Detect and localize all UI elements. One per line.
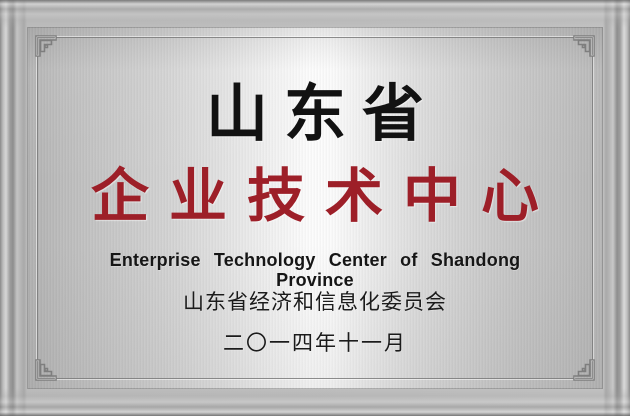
greek-key-corner-icon <box>562 34 596 68</box>
metal-plate: 山东省 企业技术中心 Enterprise Technology Center … <box>27 27 603 389</box>
plaque-main-chinese: 企业技术中心 <box>71 167 559 225</box>
award-plaque: 山东省 企业技术中心 Enterprise Technology Center … <box>0 0 630 416</box>
plaque-subtitle-english: Enterprise Technology Center of Shandong… <box>67 251 563 291</box>
plaque-issuer: 山东省经济和信息化委员会 <box>183 291 447 314</box>
greek-key-corner-icon <box>562 348 596 382</box>
greek-key-corner-icon <box>34 348 68 382</box>
plaque-title-chinese: 山东省 <box>190 83 440 145</box>
plaque-content: 山东省 企业技术中心 Enterprise Technology Center … <box>67 65 563 351</box>
plaque-date: 二〇一四年十一月 <box>223 332 407 355</box>
greek-key-corner-icon <box>34 34 68 68</box>
